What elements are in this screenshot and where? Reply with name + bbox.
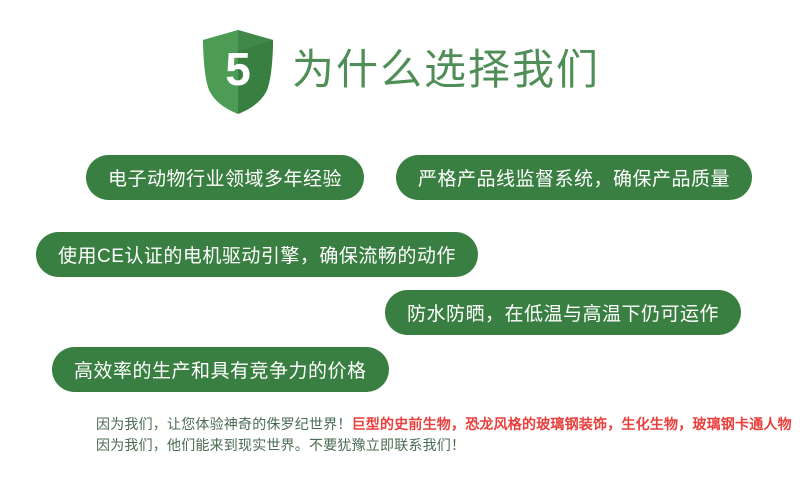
badge-number: 5 <box>200 29 276 109</box>
footer-line-2: 因为我们，他们能来到现实世界。不要犹豫立即联系我们！ <box>96 435 776 456</box>
footer-text: 因为我们，让您体验神奇的侏罗纪世界！巨型的史前生物，恐龙风格的玻璃钢装饰，生化生… <box>96 414 776 456</box>
feature-pill-label: 使用CE认证的电机驱动引擎，确保流畅的动作 <box>58 241 456 268</box>
feature-pill-quality: 严格产品线监督系统，确保产品质量 <box>396 155 752 200</box>
feature-pill-label: 高效率的生产和具有竞争力的价格 <box>74 356 367 383</box>
feature-pill-efficiency: 高效率的生产和具有竞争力的价格 <box>52 347 389 392</box>
feature-pill-label: 电子动物行业领域多年经验 <box>108 164 342 191</box>
feature-pill-weather: 防水防晒，在低温与高温下仍可运作 <box>385 290 741 335</box>
feature-pill-ce-motor: 使用CE认证的电机驱动引擎，确保流畅的动作 <box>36 232 478 277</box>
shield-badge: 5 <box>200 29 276 115</box>
page-title: 为什么选择我们 <box>292 49 600 95</box>
footer-line-1-highlight: 巨型的史前生物，恐龙风格的玻璃钢装饰，生化生物，玻璃钢卡通人物 <box>352 416 792 432</box>
footer-line-1-plain: 因为我们，让您体验神奇的侏罗纪世界！ <box>96 416 352 432</box>
feature-pill-label: 防水防晒，在低温与高温下仍可运作 <box>407 299 719 326</box>
feature-pill-experience: 电子动物行业领域多年经验 <box>86 155 364 200</box>
feature-pill-label: 严格产品线监督系统，确保产品质量 <box>418 164 730 191</box>
footer-line-1: 因为我们，让您体验神奇的侏罗纪世界！巨型的史前生物，恐龙风格的玻璃钢装饰，生化生… <box>96 414 776 435</box>
page-header: 5 为什么选择我们 <box>0 26 800 118</box>
